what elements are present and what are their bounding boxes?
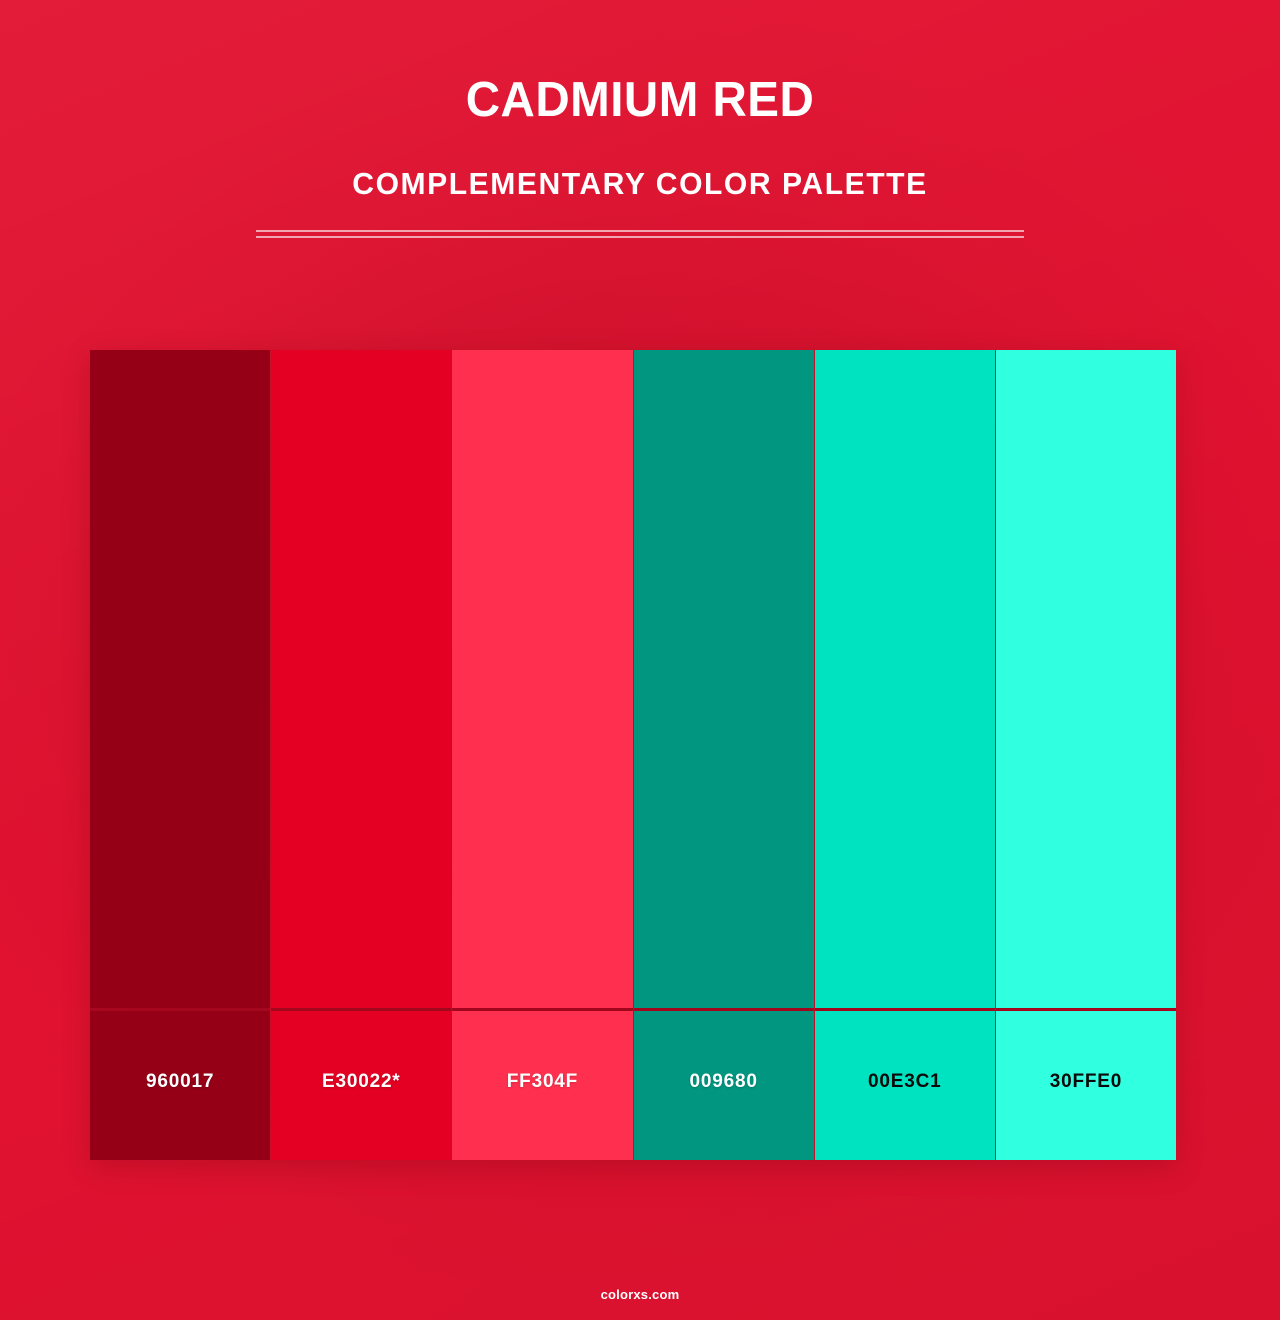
color-swatch-row: 960017E30022*FF304F00968000E3C130FFE0: [90, 350, 1176, 1160]
color-swatch[interactable]: 009680: [634, 350, 815, 1160]
color-swatch-label-strip[interactable]: FF304F: [452, 1011, 632, 1160]
color-swatch[interactable]: E30022*: [271, 350, 452, 1160]
color-swatch[interactable]: FF304F: [452, 350, 633, 1160]
color-swatch-field[interactable]: [271, 350, 451, 1008]
color-hex-label: 009680: [690, 1072, 758, 1091]
palette-poster: CADMIUM RED COMPLEMENTARY COLOR PALETTE …: [0, 0, 1280, 1320]
color-hex-label: E30022*: [322, 1072, 401, 1091]
color-hex-label: 960017: [146, 1072, 214, 1091]
color-hex-label: 00E3C1: [868, 1072, 941, 1091]
color-swatch-label-strip[interactable]: 009680: [634, 1011, 814, 1160]
divider-line-top: [256, 230, 1024, 232]
color-swatch-field[interactable]: [634, 350, 814, 1008]
color-hex-label: FF304F: [507, 1072, 578, 1091]
header-divider: [256, 230, 1024, 241]
color-swatch-field[interactable]: [90, 350, 270, 1008]
page-subtitle: COMPLEMENTARY COLOR PALETTE: [19, 168, 1261, 199]
color-swatch[interactable]: 00E3C1: [815, 350, 996, 1160]
page-title: CADMIUM RED: [19, 76, 1261, 125]
color-hex-label: 30FFE0: [1050, 1072, 1122, 1091]
color-swatch-field[interactable]: [996, 350, 1176, 1008]
color-swatch[interactable]: 960017: [90, 350, 271, 1160]
color-swatch-label-strip[interactable]: 30FFE0: [996, 1011, 1176, 1160]
color-swatch[interactable]: 30FFE0: [996, 350, 1176, 1160]
color-swatch-label-strip[interactable]: 960017: [90, 1011, 270, 1160]
footer-site-credit: colorxs.com: [0, 1288, 1280, 1301]
color-swatch-field[interactable]: [815, 350, 995, 1008]
color-swatch-label-strip[interactable]: E30022*: [271, 1011, 451, 1160]
divider-line-bottom: [256, 236, 1024, 238]
color-swatch-field[interactable]: [452, 350, 632, 1008]
color-swatch-label-strip[interactable]: 00E3C1: [815, 1011, 995, 1160]
